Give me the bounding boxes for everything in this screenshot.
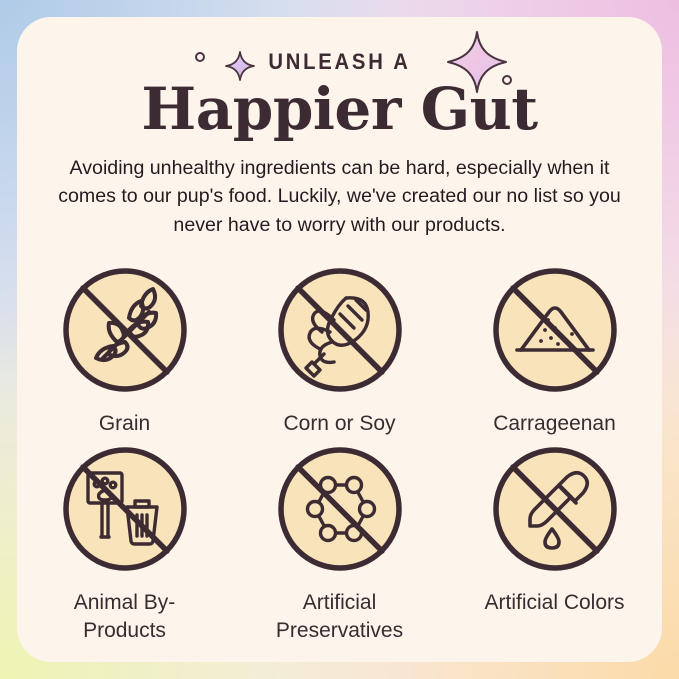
- list-item-label: Carrageenan: [493, 410, 616, 438]
- infographic-poster: UNLEASH A Happier Gut Avoiding unhealthy…: [0, 0, 679, 679]
- list-item: Grain: [17, 262, 232, 438]
- hexagon-molecule-icon: [272, 441, 408, 577]
- subtitle-paragraph: Avoiding unhealthy ingredients can be ha…: [42, 154, 638, 240]
- eyebrow-text: UNLEASH A: [43, 49, 636, 75]
- list-item: Artificial Preservatives: [232, 441, 447, 644]
- list-item-label: Artificial Preservatives: [265, 589, 415, 644]
- list-item: Artificial Colors: [447, 441, 662, 644]
- wheat-stalk-icon: [57, 262, 193, 398]
- list-item: Carrageenan: [447, 262, 662, 438]
- header: UNLEASH A Happier Gut Avoiding unhealthy…: [17, 17, 662, 240]
- eyebrow-row: UNLEASH A: [17, 39, 662, 81]
- page-title: Happier Gut: [17, 79, 662, 140]
- sign-post-trash-can-icon: [57, 441, 193, 577]
- list-item-label: Corn or Soy: [283, 410, 395, 438]
- powder-pile-icon: [487, 262, 623, 398]
- no-list-grid: Grain: [17, 262, 662, 645]
- list-item: Animal By-Products: [17, 441, 232, 644]
- eyedropper-icon: [487, 441, 623, 577]
- corn-cob-icon: [272, 262, 408, 398]
- list-item-label: Grain: [99, 410, 150, 438]
- content-card: UNLEASH A Happier Gut Avoiding unhealthy…: [17, 17, 662, 662]
- circle-outline-right-icon: [502, 75, 512, 85]
- list-item-label: Artificial Colors: [484, 589, 624, 617]
- list-item-label: Animal By-Products: [50, 589, 200, 644]
- list-item: Corn or Soy: [232, 262, 447, 438]
